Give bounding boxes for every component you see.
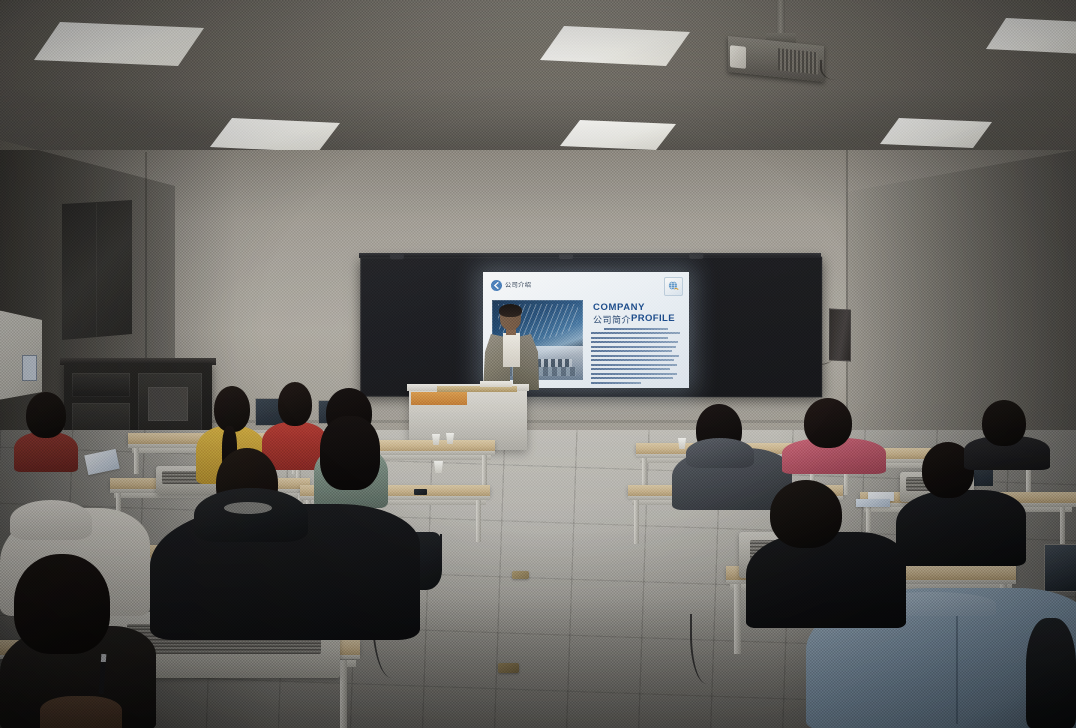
- student-head: [14, 554, 110, 654]
- projector-mount-pole: [776, 0, 785, 36]
- wall-speaker: [829, 308, 851, 361]
- presenter: [479, 305, 541, 389]
- projector-vent: [778, 48, 818, 74]
- student-head: [770, 480, 842, 548]
- slide-breadcrumb: 公司介绍: [505, 280, 531, 289]
- slide-body-text: [591, 328, 683, 386]
- classroom-photo: 公司介绍 COMPANY 公司简介 PROFILE: [0, 0, 1076, 728]
- student-head: [214, 386, 250, 432]
- presenter-hair: [499, 304, 522, 317]
- acoustic-panel: [62, 200, 132, 340]
- student-hood: [10, 500, 92, 540]
- student-head: [278, 382, 312, 426]
- student-pen-holder: [22, 676, 162, 728]
- student-head: [804, 398, 852, 448]
- student-glasses-left: [14, 392, 78, 466]
- student-hood: [686, 438, 754, 468]
- podium-paper: [480, 381, 512, 387]
- student-collar: [224, 502, 272, 514]
- student-hood: [194, 488, 308, 542]
- board-clip: [689, 253, 703, 259]
- slide-title-cn: 公司简介: [593, 313, 631, 326]
- board-clip: [390, 253, 404, 259]
- student-dark-head-right: [746, 480, 906, 620]
- back-arrow-icon: [491, 280, 502, 291]
- student-torso: [746, 532, 906, 628]
- student-bottom-right-edge: [1026, 598, 1076, 728]
- projector-lens: [730, 45, 746, 69]
- student-pink-top: [782, 398, 886, 470]
- student-head: [26, 392, 66, 438]
- student-denim-seam: [956, 604, 958, 724]
- slide-title-en2: PROFILE: [631, 313, 675, 324]
- student-black-hoodie-front: [150, 448, 420, 638]
- slide-title-en: COMPANY: [593, 302, 645, 313]
- presenter-shirt: [503, 333, 520, 367]
- board-clip: [559, 253, 573, 259]
- globe-logo-icon: [664, 277, 683, 296]
- paper-cup: [434, 461, 443, 473]
- student-hand: [40, 696, 122, 728]
- acoustic-panel-seam: [96, 203, 97, 337]
- paper-cup: [432, 434, 440, 445]
- student-torso: [1026, 618, 1076, 728]
- student-head: [982, 400, 1026, 446]
- student-torso: [14, 432, 78, 472]
- paper-cup: [446, 433, 454, 444]
- podium-accent-panel: [411, 392, 467, 405]
- rack-slot: [148, 387, 188, 421]
- rack-slot: [72, 373, 130, 397]
- whiteboard-notice: [22, 355, 37, 381]
- student-far-right-back: [964, 400, 1050, 466]
